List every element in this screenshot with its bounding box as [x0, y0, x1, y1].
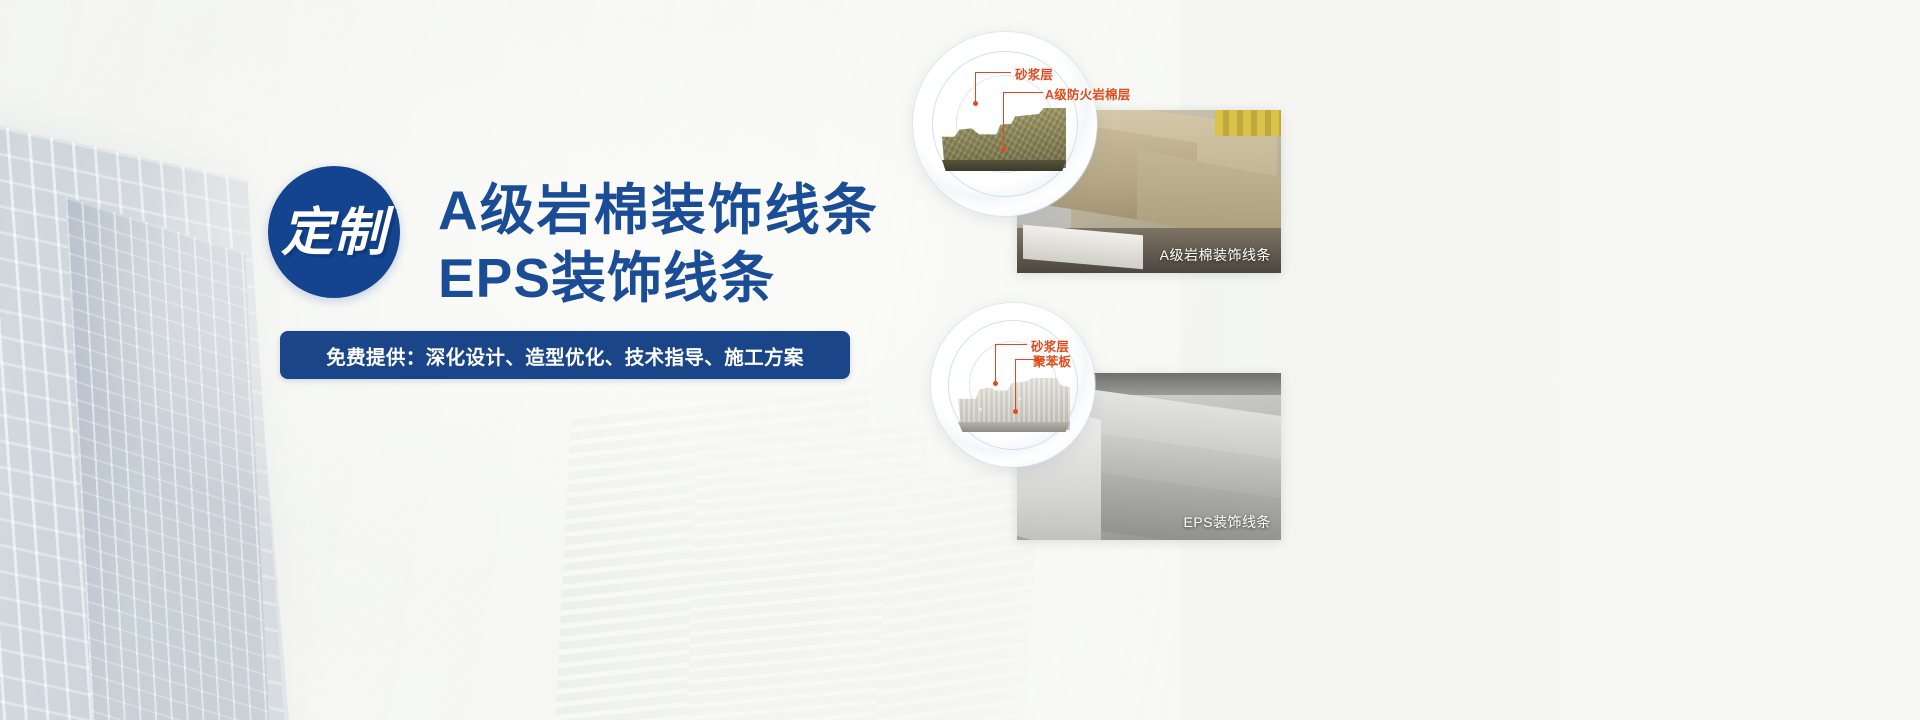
leader-line-horizontal [975, 72, 1011, 73]
photo-detail [1215, 110, 1281, 136]
leader-line-vertical [995, 344, 996, 384]
headline-line-1: A级岩棉装饰线条 [438, 178, 879, 242]
leader-dot [993, 381, 998, 386]
rockwool-profile-edge [942, 160, 1066, 171]
leader-dot [973, 101, 978, 106]
leader-dot [1013, 409, 1018, 414]
callout-label-eps-board: 聚苯板 [1033, 351, 1071, 370]
promo-banner: 定制 A级岩棉装饰线条 EPS装饰线条 免费提供：深化设计、造型优化、技术指导、… [0, 0, 1920, 720]
leader-line-vertical [1015, 359, 1016, 412]
leader-line-vertical [975, 72, 976, 104]
product-caption-eps: EPS装饰线条 [1183, 512, 1271, 532]
custom-badge-label: 定制 [281, 207, 387, 259]
leader-dot [1001, 147, 1006, 152]
callout-label-mortar: 砂浆层 [1015, 64, 1053, 83]
leader-line-horizontal [995, 344, 1027, 345]
free-services-bar: 免费提供：深化设计、造型优化、技术指导、施工方案 [280, 331, 850, 379]
leader-line-horizontal [1003, 92, 1043, 93]
callout-label-rockwool-core: A级防火岩棉层 [1045, 84, 1130, 103]
headline: A级岩棉装饰线条 EPS装饰线条 [438, 178, 879, 310]
eps-profile-edge [958, 422, 1070, 432]
diagram-bubble-rockwool [913, 32, 1097, 216]
product-caption-rockwool: A级岩棉装饰线条 [1160, 245, 1271, 265]
headline-line-2: EPS装饰线条 [438, 246, 879, 310]
free-services-text: 免费提供：深化设计、造型优化、技术指导、施工方案 [326, 341, 804, 370]
leader-line-vertical [1003, 92, 1004, 150]
custom-badge: 定制 [268, 166, 400, 298]
